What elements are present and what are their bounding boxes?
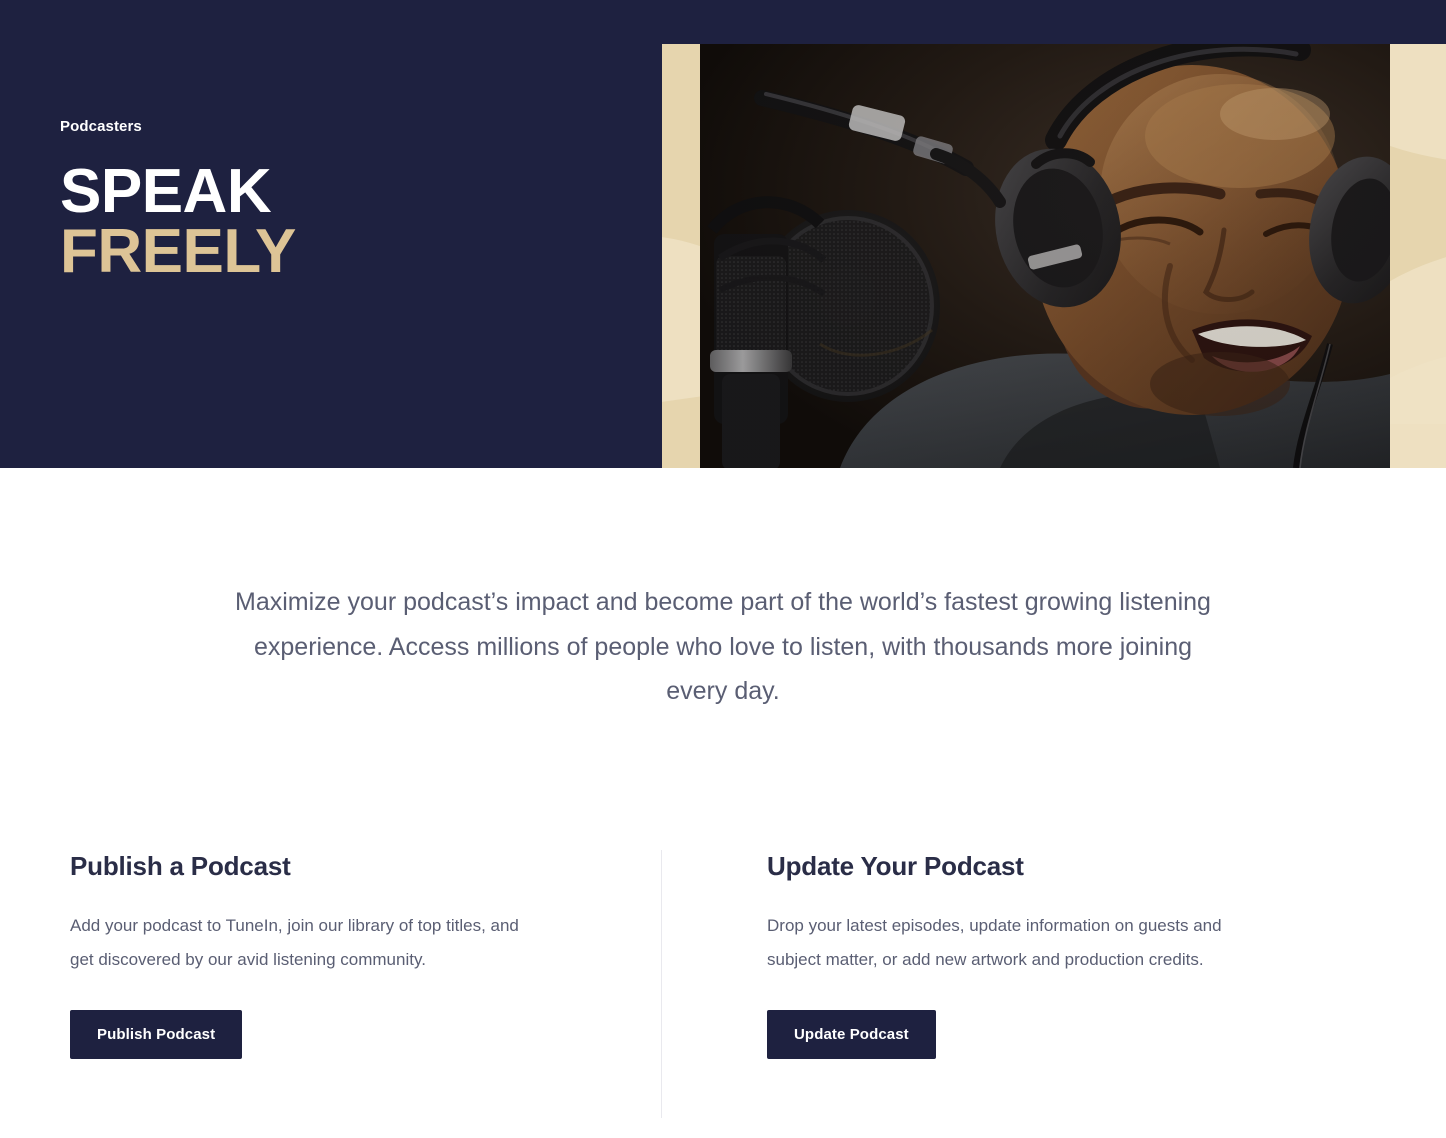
hero-section: Podcasters SPEAK FREELY [0,0,1446,468]
cta-columns-section: Publish a Podcast Add your podcast to Tu… [0,838,1446,1138]
page-title: SPEAK FREELY [60,162,620,281]
publish-podcast-description: Add your podcast to TuneIn, join our lib… [70,909,530,979]
hero-photo [700,44,1390,468]
intro-section: Maximize your podcast’s impact and becom… [0,468,1446,714]
intro-paragraph: Maximize your podcast’s impact and becom… [223,580,1223,714]
hero-title-line-1: SPEAK [60,162,620,222]
update-podcast-column: Update Your Podcast Drop your latest epi… [661,838,1446,1138]
publish-podcast-title: Publish a Podcast [70,850,571,883]
hero-media-panel [662,44,1446,468]
podcasters-landing-page: Podcasters SPEAK FREELY [0,0,1446,1138]
hero-copy: Podcasters SPEAK FREELY [60,118,620,281]
hero-title-line-2: FREELY [60,222,620,282]
update-podcast-title: Update Your Podcast [767,850,1356,883]
hero-eyebrow: Podcasters [60,118,620,136]
update-podcast-description: Drop your latest episodes, update inform… [767,909,1227,979]
publish-podcast-column: Publish a Podcast Add your podcast to Tu… [0,838,661,1138]
update-podcast-button[interactable]: Update Podcast [767,1010,936,1059]
publish-podcast-button[interactable]: Publish Podcast [70,1010,242,1059]
